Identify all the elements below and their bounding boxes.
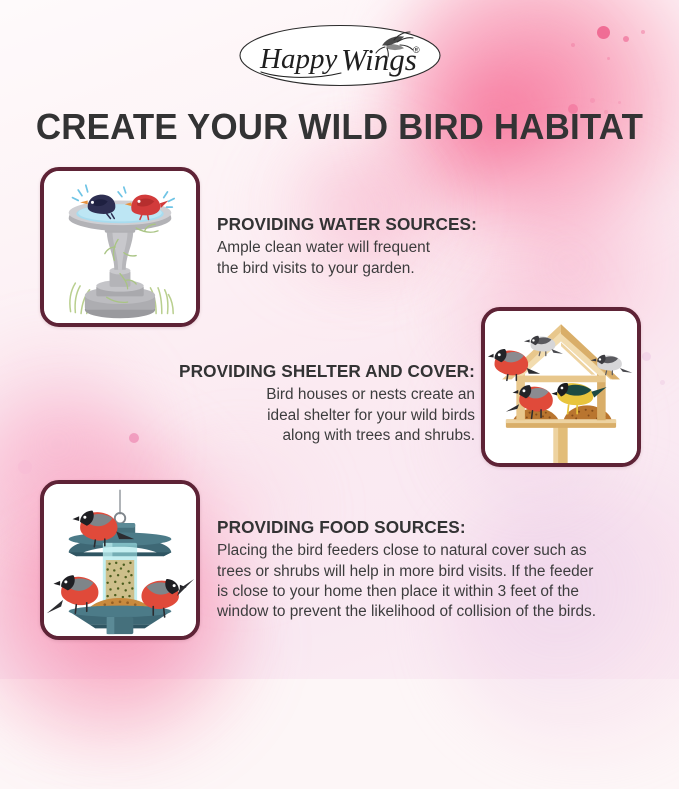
logo-wordmark-wings: Wings [341,42,417,77]
splatter-dot [590,98,595,103]
section-water-body: Ample clean water will frequent the bird… [217,238,477,279]
logo-wordmark-happy: Happy [259,43,337,75]
logo-trademark-symbol: ® [413,45,420,55]
body-line: Bird houses or nests create an [266,386,475,403]
section-water-heading: PROVIDING WATER SOURCES: [217,213,477,235]
splatter-dot [571,43,575,47]
section-food-text: PROVIDING FOOD SOURCES: Placing the bird… [217,516,642,623]
splatter-dot [618,101,621,104]
section-shelter-body: Bird houses or nests create an ideal she… [150,385,475,446]
splatter-dot [607,57,610,60]
bird-bath-illustration [44,171,196,323]
splatter-dot [641,30,645,34]
splatter-dot [597,26,610,39]
body-line: Placing the bird feeders close to natura… [217,542,587,559]
body-line: ideal shelter for your wild birds [267,407,475,424]
hanging-tube-feeder-illustration [44,484,196,636]
splatter-dot [642,352,651,361]
body-line: trees or shrubs will help in more bird v… [217,563,593,580]
section-shelter-text: PROVIDING SHELTER AND COVER: Bird houses… [150,360,475,446]
page-title: CREATE YOUR WILD BIRD HABITAT [15,106,663,148]
bird-house-feeder-illustration [485,311,637,463]
splatter-dot [18,460,32,474]
tube-feeder-image-card [40,480,200,640]
body-line: along with trees and shrubs. [283,427,476,444]
bird-bath-image-card [40,167,200,327]
body-line: the bird visits to your garden. [217,260,415,277]
bird-house-image-card [481,307,641,467]
brand-logo: Happy Wings ® [237,23,443,88]
splatter-dot [129,433,139,443]
section-water-text: PROVIDING WATER SOURCES: Ample clean wat… [217,213,477,279]
body-line: is close to your home then place it with… [217,583,579,600]
splatter-dot [660,380,665,385]
body-line: window to prevent the likelihood of coll… [217,603,596,620]
body-line: Ample clean water will frequent [217,239,430,256]
section-food-body: Placing the bird feeders close to natura… [217,541,642,623]
section-shelter-heading: PROVIDING SHELTER AND COVER: [150,360,475,382]
section-food-heading: PROVIDING FOOD SOURCES: [217,516,642,538]
splatter-dot [623,36,629,42]
